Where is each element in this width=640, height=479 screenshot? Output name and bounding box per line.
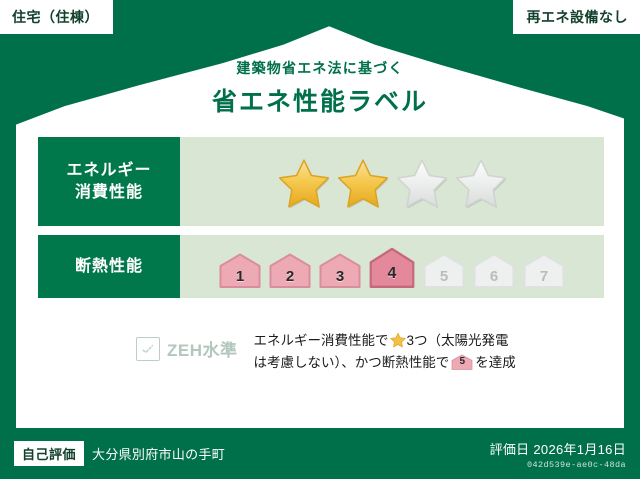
grade-badge-7: 7 [522,252,566,288]
achievement-note-line1: エネルギー消費性能で 3つ（太陽光発電 [254,330,605,352]
grade-badge-1: 1 [218,252,262,288]
grade-badge-3: 3 [318,252,362,288]
grade-badge-5: 5 [422,252,466,288]
grade-number: 3 [318,268,362,285]
grade-scale: 1234567 [218,246,566,288]
grade-number: 6 [472,268,516,285]
achievement-note-line2: は考慮しない）、かつ断熱性能で 5を達成 [254,352,605,374]
note-line1-prefix: エネルギー消費性能で [254,333,389,348]
label-footer: 自己評価 大分県別府市山の手町 評価日 2026年1月16日 042d539e-… [0,429,640,479]
star-filled-icon [277,155,331,209]
energy-label-line2: 消費性能 [75,182,143,204]
inline-grade-number: 5 [451,354,473,370]
footer-left-group: 自己評価 大分県別府市山の手町 [14,441,225,466]
note-line2-prefix: は考慮しない）、かつ断熱性能で [254,355,450,370]
inline-grade-badge: 5 [451,354,473,370]
insulation-label-line1: 断熱性能 [75,256,143,278]
star-empty-icon [454,155,508,209]
insulation-performance-value: 1234567 [180,235,604,298]
energy-performance-label: エネルギー 消費性能 [38,137,180,226]
self-evaluation-badge: 自己評価 [14,441,84,466]
insulation-performance-label: 断熱性能 [38,235,180,298]
zeh-standard-label: ZEH水準 [167,336,238,361]
grade-badge-6: 6 [472,252,516,288]
insulation-performance-row: 断熱性能 1234567 [38,235,604,298]
grade-number: 1 [218,268,262,285]
zeh-check-icon [136,337,160,361]
building-type-tag: 住宅（住棟） [0,0,113,34]
achievement-note: エネルギー消費性能で 3つ（太陽光発電 は考慮しない）、かつ断熱性能で 5を達成 [254,330,605,374]
performance-rows: エネルギー 消費性能 断熱性能 1234567 [38,137,604,307]
note-line2-suffix: を達成 [475,355,516,370]
inline-star-icon [390,332,406,348]
energy-performance-value [180,137,604,226]
grade-number: 2 [268,268,312,285]
property-address: 大分県別府市山の手町 [92,444,225,463]
zeh-note-block: ZEH水準 エネルギー消費性能で 3つ（太陽光発電 は考慮しない）、かつ断熱性能… [38,330,604,374]
evaluation-date: 評価日 2026年1月16日 [490,439,626,458]
grade-number: 7 [522,268,566,285]
zeh-standard-indicator: ZEH水準 [136,336,238,361]
star-empty-icon [395,155,449,209]
grade-number: 5 [422,268,466,285]
label-title-block: 建築物省エネ法に基づく 省エネ性能ラベル [0,58,640,118]
grade-badge-4: 4 [368,246,416,288]
energy-performance-row: エネルギー 消費性能 [38,137,604,226]
grade-number: 4 [368,265,416,283]
star-rating [277,155,508,209]
energy-label-line1: エネルギー [66,160,151,182]
note-line1-suffix: 3つ（太陽光発電 [407,333,509,348]
document-id: 042d539e-ae0c-48da [490,460,626,470]
title-subtitle: 建築物省エネ法に基づく [0,58,640,78]
title-main: 省エネ性能ラベル [0,82,640,118]
footer-right-group: 評価日 2026年1月16日 042d539e-ae0c-48da [490,439,626,470]
renewable-energy-tag: 再エネ設備なし [513,0,640,34]
star-filled-icon [336,155,390,209]
energy-performance-label: 住宅（住棟） 再エネ設備なし 建築物省エネ法に基づく 省エネ性能ラベル エネルギ… [0,0,640,479]
grade-badge-2: 2 [268,252,312,288]
